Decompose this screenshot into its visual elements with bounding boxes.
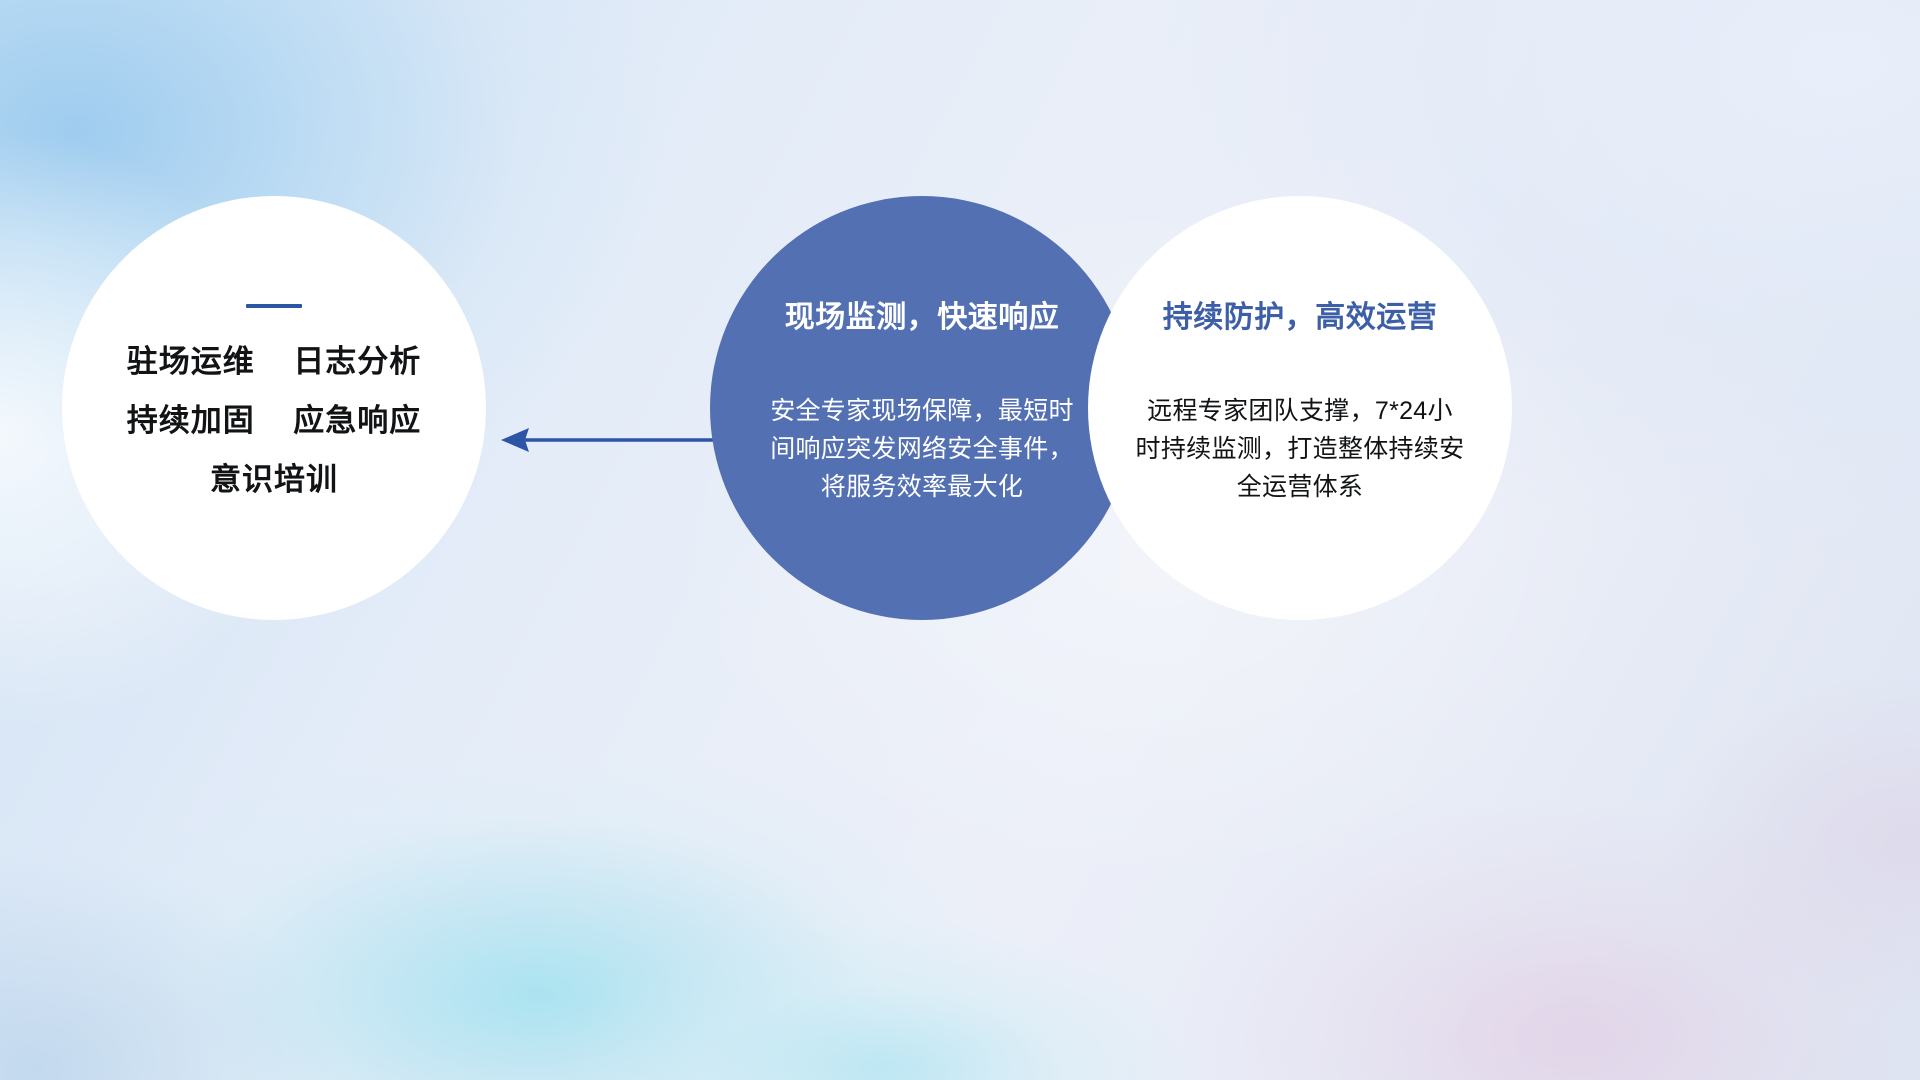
accent-dash-icon (246, 304, 302, 308)
right-circle-title: 持续防护，高效运营 (1163, 292, 1438, 336)
middle-onsite-monitoring-circle[interactable]: 现场监测，快速响应 安全专家现场保障，最短时间响应突发网络安全事件，将服务效率最… (710, 196, 1134, 620)
left-circle-line-2: 持续加固 应急响应 (127, 405, 421, 436)
left-circle-line-1: 驻场运维 日志分析 (127, 346, 421, 377)
slide-canvas: 驻场运维 日志分析 持续加固 应急响应 意识培训 现场监测，快速响应 安全专家现… (0, 0, 1920, 1080)
arrow-head (501, 428, 529, 452)
middle-circle-body: 安全专家现场保障，最短时间响应突发网络安全事件，将服务效率最大化 (767, 392, 1077, 506)
middle-circle-title: 现场监测，快速响应 (785, 292, 1060, 336)
connector-arrow-icon (485, 410, 725, 470)
right-continuous-protection-circle[interactable]: 持续防护，高效运营 远程专家团队支撑，7*24小时持续监测，打造整体持续安全运营… (1088, 196, 1512, 620)
right-circle-body: 远程专家团队支撑，7*24小时持续监测，打造整体持续安全运营体系 (1135, 392, 1465, 506)
left-circle-line-3: 意识培训 (210, 464, 338, 495)
left-capability-circle[interactable]: 驻场运维 日志分析 持续加固 应急响应 意识培训 (62, 196, 486, 620)
